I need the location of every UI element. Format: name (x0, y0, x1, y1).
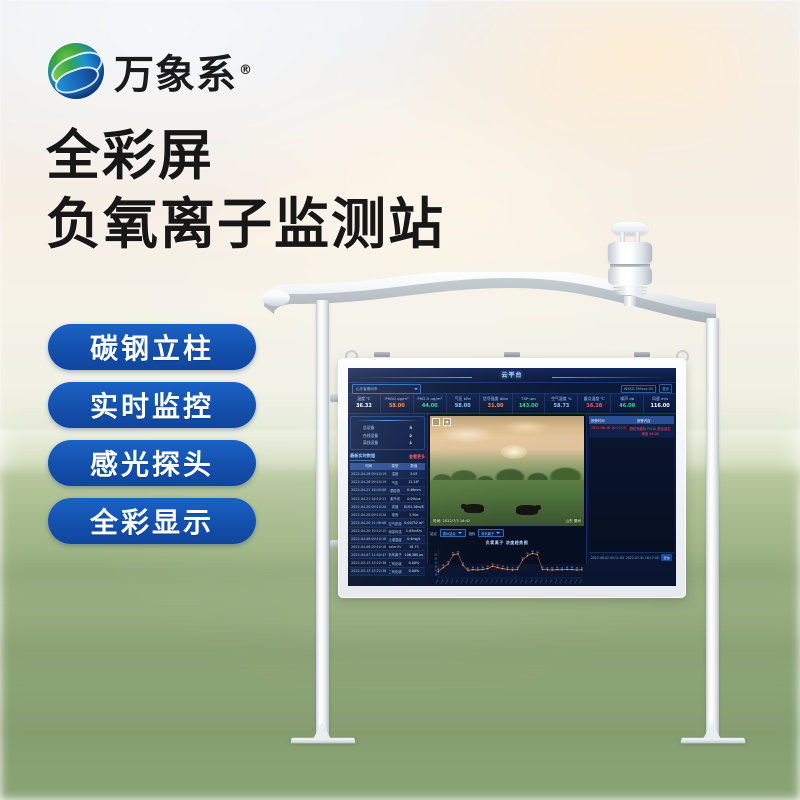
metric-card: 温度 ℃36.32 (348, 394, 381, 413)
view-more-link[interactable]: 查看更多 (409, 454, 425, 460)
dashboard-screen: 云平台 山东省德州市 WXSZ-789xxx-02 退出 温度 ℃36.32PM… (348, 368, 676, 586)
svg-text:1210: 1210 (457, 552, 459, 555)
svg-text:430: 430 (566, 567, 568, 570)
metric-card: 气压 kPa98.00 (447, 394, 480, 413)
metric-value: 16.38 (578, 403, 610, 411)
table-cell-value: 3.07 (403, 470, 425, 478)
svg-text:470: 470 (502, 566, 504, 569)
device-status-count: 3 (409, 424, 412, 431)
table-cell-type: 雨量传感 (387, 527, 402, 535)
dashboard-subbar: 山东省德州市 WXSZ-789xxx-02 退出 (348, 383, 676, 393)
video-cattle (464, 504, 484, 513)
svg-text:22:00: 22:00 (545, 580, 548, 586)
table-cell-time: 2022-04-20 10:12:12 (350, 527, 387, 535)
dashboard-body: 总设备3在线设备2离线设备1 最新实时数据 查看更多 时间类型数值 2022-0… (348, 414, 676, 564)
metric-label: 风速 m/s (644, 396, 676, 402)
chart-control-label: 指标 (469, 531, 476, 536)
svg-text:03:30: 03:30 (570, 580, 573, 586)
svg-text:08:00: 08:00 (475, 580, 478, 586)
svg-text:520: 520 (442, 565, 444, 568)
svg-text:07:00: 07:00 (470, 580, 473, 586)
svg-text:1200: 1200 (434, 555, 438, 558)
realtime-data-table: 时间类型数值 2022-04-28 09:10:19温度3.072022-04-… (350, 463, 425, 576)
svg-text:410: 410 (561, 568, 563, 571)
right-base-gusset (703, 722, 721, 739)
table-cell-time: 2022-04-28 09:10:19 (350, 478, 387, 486)
svg-text:410: 410 (581, 568, 583, 571)
device-status-label: 总设备 (363, 424, 374, 431)
chevron-down-icon (496, 532, 500, 534)
video-toolbar[interactable]: ⛶ ◉ (432, 418, 451, 426)
video-timestamp: 时间: 2022/7/3 16:42 (433, 519, 470, 524)
svg-text:380: 380 (467, 568, 469, 571)
site-selector[interactable]: 山东省德州市 (352, 384, 421, 394)
table-row[interactable]: 2022-03-13 15:22:38二氧化碳0.00% (350, 559, 425, 567)
svg-text:430: 430 (541, 567, 543, 570)
alarm-range-end[interactable]: 2022-07-31 16:17:00 (626, 556, 659, 560)
live-video-feed[interactable]: ⛶ ◉ 时间: 2022/7/3 16:42 山东 德州 (430, 416, 584, 526)
snapshot-icon[interactable]: ◉ (443, 418, 451, 426)
svg-text:17:00: 17:00 (520, 580, 523, 586)
svg-text:420: 420 (556, 567, 558, 570)
svg-text:400: 400 (512, 568, 514, 571)
metrics-strip: 温度 ℃36.32PM10 ug/m³58.00PM2.5 ug/m³44.00… (348, 393, 676, 414)
right-base-plate (680, 738, 745, 744)
table-cell-value: 0.4mg/L (403, 535, 425, 543)
left-base-gusset (313, 722, 331, 739)
chart-control-value: 负氧离子 (481, 531, 494, 536)
table-cell-time: 2022-04-21 16:40:08 (350, 486, 387, 494)
table-cell-value: 2.50c (403, 511, 425, 519)
svg-text:430: 430 (507, 567, 509, 570)
svg-text:470: 470 (487, 566, 489, 569)
table-row[interactable]: 2022-04-20 11:36:08空气质量0.00752 m³ (350, 519, 425, 527)
site-selector-value: 山东省德州市 (356, 385, 378, 393)
table-cell-value: 18.73 (403, 544, 425, 551)
chart-controls: 站点德州站点指标负氧离子 (430, 528, 584, 538)
alarm-empty-area (589, 438, 674, 552)
monitoring-station-product: 云平台 山东省德州市 WXSZ-789xxx-02 退出 温度 ℃36.32PM… (0, 0, 800, 800)
device-status-count: 1 (409, 439, 412, 446)
alarm-content: 颗粒物超标 PM10 超出设定阈值 58.00 (628, 426, 672, 436)
table-cell-value: 0.00% (403, 559, 425, 567)
table-cell-time: 2022-04-20 09:10:20 (350, 503, 387, 511)
svg-text:1180: 1180 (536, 552, 538, 555)
svg-text:1230: 1230 (531, 551, 533, 554)
right-panel: 报警时间 报警内容 2022-06-16 10:12:15颗粒物超标 PM10 … (586, 414, 676, 564)
svg-text:16:00: 16:00 (515, 580, 518, 586)
alarm-table-header: 报警时间 报警内容 (589, 416, 674, 424)
svg-text:11:00: 11:00 (490, 580, 493, 586)
table-column-header: 数值 (403, 463, 425, 470)
device-status-label: 在线设备 (363, 432, 378, 439)
table-cell-type: 噪音 (387, 511, 402, 519)
table-cell-time: 2022-04-20 09:10:20 (350, 511, 387, 519)
table-cell-type: 负氧离子 (387, 551, 402, 559)
table-column-header: 类型 (387, 463, 402, 470)
svg-text:320: 320 (437, 569, 439, 572)
svg-text:23:00: 23:00 (550, 580, 553, 586)
metric-label: 信号强度 dbm (480, 396, 512, 402)
svg-text:06:00: 06:00 (465, 580, 468, 586)
table-row[interactable]: 2022-04-08 09:10:18土壤湿度0.4mg/L (350, 535, 425, 543)
metric-value: 98.00 (447, 403, 479, 411)
svg-text:700: 700 (447, 562, 449, 565)
data-table-caption: 最新实时数据 (350, 453, 375, 461)
metric-value: 46.00 (611, 403, 643, 411)
chart-control-label: 站点 (430, 531, 437, 536)
svg-text:10:00: 10:00 (485, 580, 488, 586)
fullscreen-icon[interactable]: ⛶ (432, 418, 440, 426)
svg-text:01:30: 01:30 (560, 580, 563, 586)
svg-text:18:00: 18:00 (525, 580, 528, 586)
alarm-col-content: 报警内容 (615, 418, 672, 423)
video-sun (501, 445, 527, 459)
table-row[interactable]: 2022-03-13 15:22:38二氧化硫0.00% (350, 567, 425, 575)
left-panel: 总设备3在线设备2离线设备1 最新实时数据 查看更多 时间类型数值 2022-0… (348, 414, 428, 564)
table-cell-type: 颗粒物 (387, 486, 402, 494)
device-status-row: 离线设备1 (355, 439, 420, 446)
table-cell-type: 紫外线 (387, 494, 402, 502)
metric-label: 露点温度 ℃ (578, 396, 610, 402)
metric-card: 噪声 db46.00 (611, 394, 644, 413)
table-row[interactable]: 2022-04-20 09:10:20风速0191.16m/S (350, 503, 425, 511)
svg-text:1150: 1150 (452, 553, 454, 556)
svg-text:430: 430 (517, 567, 519, 570)
svg-text:00:30: 00:30 (555, 580, 558, 586)
svg-text:900: 900 (522, 558, 524, 561)
svg-text:200: 200 (435, 575, 438, 578)
logout-button[interactable]: 退出 (659, 384, 672, 393)
table-cell-value: 0.00752 m³ (403, 519, 425, 527)
chart-control-select[interactable]: 德州站点 (440, 529, 466, 537)
metric-card: PM2.5 ug/m³44.00 (414, 394, 447, 413)
chevron-down-icon (414, 388, 418, 390)
metric-label: 气压 kPa (447, 396, 479, 402)
metric-label: 空气湿度 % (545, 396, 577, 402)
table-column-header: 时间 (350, 463, 387, 470)
left-base-plate (290, 738, 355, 744)
table-cell-time: 2022-03-13 15:22:38 (350, 567, 387, 575)
table-cell-value: 0191.16m/S (403, 503, 425, 511)
chevron-down-icon (458, 532, 462, 534)
svg-text:430: 430 (482, 567, 484, 570)
svg-text:05:00: 05:00 (460, 580, 463, 586)
metric-value: 116.00 (644, 403, 676, 411)
alarm-query-button[interactable]: 查询 (661, 554, 672, 561)
svg-text:600: 600 (492, 564, 494, 567)
table-cell-type: 二氧化硫 (387, 567, 402, 575)
chart-control-value: 德州站点 (443, 531, 456, 536)
table-cell-value: 0.09Lux (403, 494, 425, 502)
table-row[interactable]: 2022-04-21 16:40:08颗粒物0.46mm (350, 486, 425, 494)
table-cell-time: 2022-03-13 15:22:38 (350, 559, 387, 567)
table-cell-time: 2022-04-08 09:10:18 (350, 544, 387, 551)
metric-label: PM10 ug/m³ (381, 396, 413, 402)
table-cell-value: 12.18° (403, 478, 425, 486)
metric-card: 风速 m/s116.00 (644, 394, 676, 413)
alarm-range-start[interactable]: 2022-08-02 00:11:00 (591, 556, 624, 560)
data-table-header-row: 最新实时数据 查看更多 (350, 453, 425, 461)
device-status-label: 离线设备 (363, 439, 378, 446)
metric-card: TSP μm143.00 (513, 394, 546, 413)
metric-value: 143.00 (513, 403, 545, 411)
svg-text:02:00: 02:00 (446, 580, 449, 586)
table-cell-type: 空气质量 (387, 519, 402, 527)
table-cell-time: 2022-04-28 09:10:19 (350, 470, 387, 478)
metric-label: PM2.5 ug/m³ (414, 396, 446, 402)
svg-text:410: 410 (546, 568, 548, 571)
alarm-col-time: 报警时间 (591, 418, 615, 423)
svg-text:420: 420 (571, 567, 573, 570)
alarm-footer: 2022-08-02 00:11:00 2022-07-31 16:17:00 … (589, 552, 674, 563)
mount-tab (634, 352, 650, 357)
table-cell-type: 气压 (387, 478, 402, 486)
table-cell-type: 温度 (387, 470, 402, 478)
metric-label: TSP μm (513, 396, 545, 402)
metric-card: 信号强度 dbm31.00 (480, 394, 513, 413)
metric-label: 温度 ℃ (348, 396, 380, 402)
table-cell-value: 106,380 ps (403, 551, 425, 559)
table-cell-type: 二氧化碳 (387, 559, 402, 567)
dashboard-header: 云平台 (348, 368, 676, 383)
user-area: WXSZ-789xxx-02 退出 (621, 384, 672, 393)
svg-text:02:30: 02:30 (565, 580, 568, 586)
table-row[interactable]: 2022-04-28 09:10:19温度3.07 (350, 470, 425, 478)
user-label: WXSZ-789xxx-02 (621, 385, 656, 393)
table-row[interactable]: 2022-04-21 16:10:11紫外线0.09Lux (350, 494, 425, 502)
metric-value: 58.00 (381, 403, 413, 411)
table-cell-time: 2022-04-07 11:50:47 (350, 551, 387, 559)
svg-text:12:00: 12:00 (495, 580, 498, 586)
table-row[interactable]: 2022-04-07 11:50:47负氧离子106,380 ps (350, 551, 425, 559)
table-cell-type: 土壤湿度 (387, 535, 402, 543)
device-status-count: 2 (409, 432, 412, 439)
svg-text:20:00: 20:00 (535, 580, 538, 586)
table-cell-type: 风速 (387, 503, 402, 511)
table-row[interactable]: 2022-04-20 09:10:20噪音2.50c (350, 511, 425, 519)
metric-value: 44.00 (414, 403, 446, 411)
svg-text:14:00: 14:00 (505, 580, 508, 586)
svg-text:04:00: 04:00 (456, 580, 459, 586)
svg-text:800: 800 (435, 563, 438, 566)
alarm-row[interactable]: 2022-06-16 10:12:15颗粒物超标 PM10 超出设定阈值 58.… (589, 424, 674, 437)
mount-tab (504, 352, 520, 357)
svg-text:400: 400 (576, 568, 578, 571)
table-cell-value: 0.00% (403, 567, 425, 575)
left-support-column (316, 300, 329, 738)
right-support-column (706, 318, 719, 738)
table-cell-value: 0.46mm (403, 486, 425, 494)
svg-text:00:00: 00:00 (436, 580, 439, 586)
alarm-time: 2022-06-16 10:12:15 (591, 426, 628, 436)
svg-text:04:30: 04:30 (574, 580, 577, 586)
device-status-row: 在线设备2 (355, 432, 420, 439)
device-status-row: 总设备3 (355, 424, 420, 431)
trend-chart: 负氧离子 浓度趋势图 2004006008001000120032000:005… (430, 540, 584, 562)
svg-text:09:00: 09:00 (480, 580, 483, 586)
svg-text:19:00: 19:00 (530, 580, 533, 586)
chart-canvas: 2004006008001000120032000:0052001:007000… (430, 546, 584, 586)
svg-text:1120: 1120 (526, 553, 528, 556)
svg-text:21:00: 21:00 (540, 580, 543, 586)
svg-text:13:00: 13:00 (500, 580, 503, 586)
metric-card: PM10 ug/m³58.00 (381, 394, 414, 413)
table-cell-type: solarUV (387, 544, 402, 551)
metric-card: 露点温度 ℃16.38 (578, 394, 611, 413)
chart-control-select[interactable]: 负氧离子 (478, 529, 504, 537)
svg-text:640: 640 (462, 563, 464, 566)
svg-text:15:00: 15:00 (510, 580, 513, 586)
metric-label: 噪声 db (611, 396, 643, 402)
video-sky (430, 416, 584, 467)
svg-text:400: 400 (551, 568, 553, 571)
table-cell-time: 2022-04-08 09:10:18 (350, 535, 387, 543)
ultrasonic-weather-sensor-icon (604, 222, 656, 304)
table-cell-time: 2022-04-21 16:10:11 (350, 494, 387, 502)
metric-value: 36.32 (348, 403, 380, 411)
metric-value: 31.00 (480, 403, 512, 411)
metric-card: 空气湿度 %58.73 (545, 394, 578, 413)
svg-text:01:00: 01:00 (441, 580, 444, 586)
svg-text:05:30: 05:30 (579, 580, 582, 586)
table-cell-time: 2022-04-20 11:36:08 (350, 519, 387, 527)
center-panel: ⛶ ◉ 时间: 2022/7/3 16:42 山东 德州 站点德州站点指标负氧离… (428, 414, 586, 564)
device-status-panel: 总设备3在线设备2离线设备1 (350, 416, 425, 450)
svg-text:420: 420 (472, 567, 474, 570)
svg-text:400: 400 (477, 568, 479, 571)
video-cattle (516, 505, 538, 515)
svg-text:600: 600 (435, 567, 438, 570)
table-row[interactable]: 2022-04-20 10:12:12雨量传感1.05mSm (350, 527, 425, 535)
mount-tab (374, 352, 390, 357)
table-row[interactable]: 2022-04-28 09:10:19气压12.18° (350, 478, 425, 486)
svg-text:520: 520 (497, 565, 499, 568)
svg-text:03:00: 03:00 (451, 580, 454, 586)
dashboard-title: 云平台 (348, 370, 676, 379)
product-marketing-image: 万象系® 全彩屏 负氧离子监测站 碳钢立柱 实时监控 感光探头 全彩显示 (0, 0, 800, 800)
table-row[interactable]: 2022-04-08 09:10:18solarUV18.73 (350, 544, 425, 551)
table-cell-value: 1.05mSm (403, 527, 425, 535)
svg-text:1000: 1000 (434, 559, 438, 562)
metric-value: 58.73 (545, 403, 577, 411)
video-location-label: 山东 德州 (565, 519, 581, 524)
